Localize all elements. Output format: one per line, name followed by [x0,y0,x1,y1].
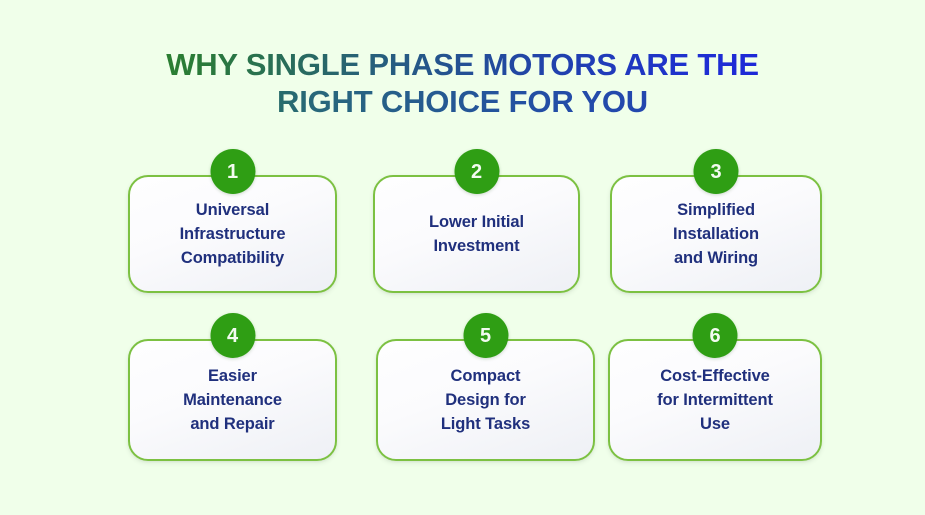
benefit-card-1-number-badge: 1 [210,149,255,194]
benefit-card-6-number-badge: 6 [693,313,738,358]
benefit-card-3-number: 3 [710,162,721,182]
benefit-card-4-number-badge: 4 [210,313,255,358]
benefit-card-1-number: 1 [227,162,238,182]
benefit-card-4-number: 4 [227,326,238,346]
benefit-card-2-number: 2 [471,162,482,182]
benefit-card-2-label: Lower Initial Investment [417,210,536,258]
benefit-card-2-number-badge: 2 [454,149,499,194]
benefit-card-6-label: Cost-Effective for Intermittent Use [645,364,785,436]
benefit-card-5-label: Compact Design for Light Tasks [429,364,542,436]
benefit-card-4-label: Easier Maintenance and Repair [171,364,294,436]
benefit-card-5-number-badge: 5 [463,313,508,358]
benefit-card-3-label: Simplified Installation and Wiring [661,198,771,270]
benefit-card-3-number-badge: 3 [694,149,739,194]
benefit-card-5-number: 5 [480,326,491,346]
benefit-card-6-number: 6 [709,326,720,346]
benefit-card-1-label: Universal Infrastructure Compatibility [168,198,298,270]
infographic-canvas: WHY SINGLE PHASE MOTORS ARE THE RIGHT CH… [0,0,925,515]
benefit-card-grid: Universal Infrastructure Compatibility 1… [0,0,925,515]
